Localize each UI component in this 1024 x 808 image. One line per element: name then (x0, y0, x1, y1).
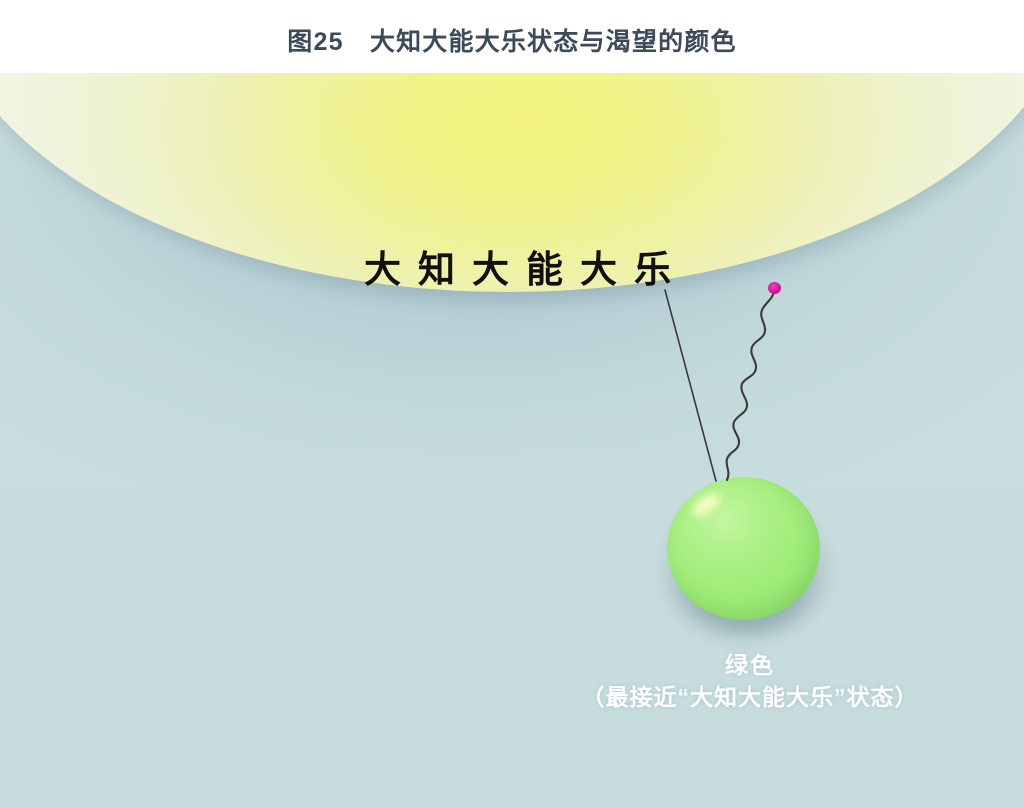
page-title: 图25 大知大能大乐状态与渴望的颜色 (0, 22, 1024, 58)
caption-description: （最接近“大知大能大乐”状态） (480, 680, 1020, 714)
caption-color-name: 绿色 (480, 650, 1020, 680)
header-band: 图25 大知大能大乐状态与渴望的颜色 (0, 0, 1024, 73)
magenta-dot (768, 282, 781, 294)
state-label: 大知大能大乐 (0, 239, 1024, 293)
green-sphere (667, 477, 820, 620)
background-backdrop-lower (0, 430, 1024, 808)
figure-container: 大知大能大乐 绿色 （最接近“大知大能大乐”状态） 图25 大知大能大乐状态与渴… (0, 0, 1024, 808)
figure-caption: 绿色 （最接近“大知大能大乐”状态） (480, 650, 1020, 714)
